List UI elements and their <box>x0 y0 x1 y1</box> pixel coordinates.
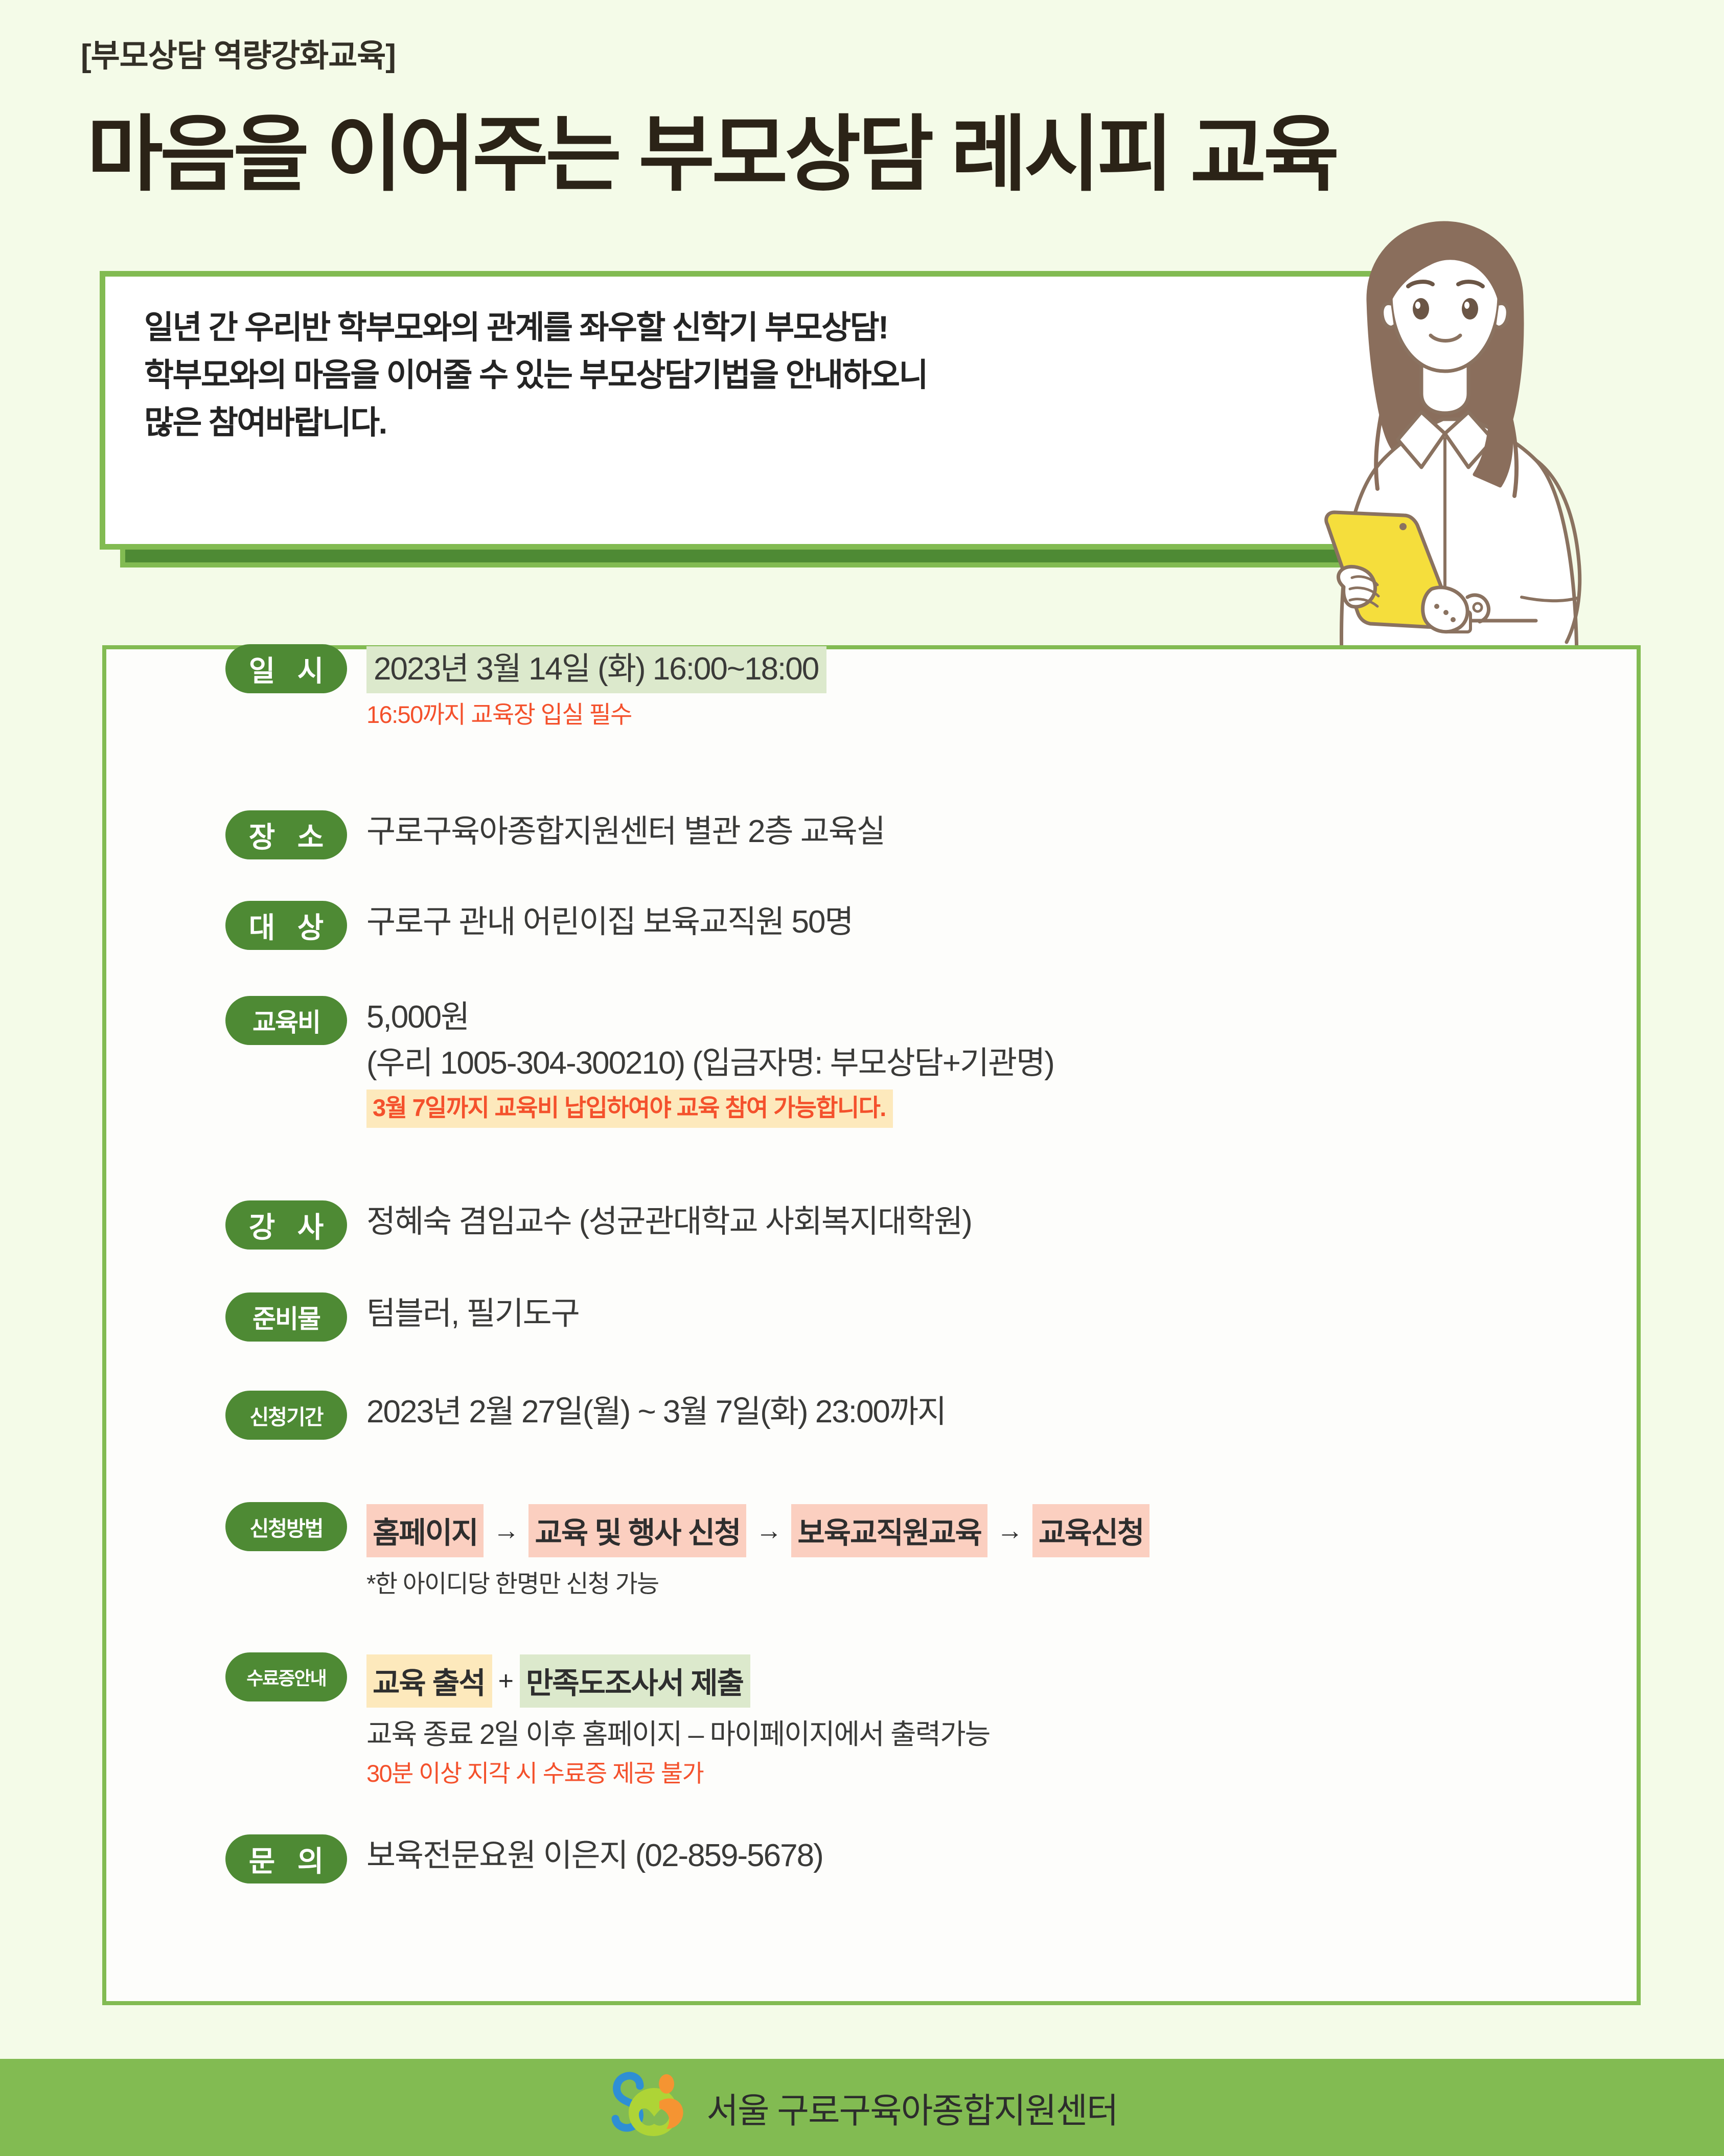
center-logo-icon <box>606 2071 693 2145</box>
value-fee: 5,000원 <box>366 998 1637 1037</box>
poster-kicker: [부모상담 역량강화교육] <box>81 30 396 76</box>
label-target: 대 상 <box>225 901 347 950</box>
flow-arrow-icon-3: → <box>987 1515 1032 1546</box>
detail-row-place: 장 소 구로구육아종합지원센터 별관 2층 교육실 <box>106 810 1637 859</box>
value-place: 구로구육아종합지원센터 별관 2층 교육실 <box>366 812 1637 851</box>
intro-line-2: 학부모와의 마음을 이어줄 수 있는 부모상담기법을 안내하오니 <box>144 352 1395 399</box>
value-target: 구로구 관내 어린이집 보육교직원 50명 <box>366 903 1637 942</box>
certificate-issue-info: 교육 종료 2일 이후 홈페이지 – 마이페이지에서 출력가능 <box>366 1717 1637 1752</box>
label-period: 신청기간 <box>225 1391 347 1440</box>
content-datetime: 2023년 3월 14일 (화) 16:00~18:00 16:50까지 교육장… <box>347 644 1637 729</box>
label-certificate: 수료증안내 <box>225 1652 347 1701</box>
content-method: 홈페이지 → 교육 및 행사 신청 → 보육교직원교육 → 교육신청 *한 아이… <box>347 1502 1637 1599</box>
label-method: 신청방법 <box>225 1502 347 1551</box>
content-place: 구로구육아종합지원센터 별관 2층 교육실 <box>347 810 1637 851</box>
value-instructor: 정혜숙 겸임교수 (성균관대학교 사회복지대학원) <box>366 1202 1637 1241</box>
value-datetime: 2023년 3월 14일 (화) 16:00~18:00 <box>366 646 826 693</box>
flow-step-1: 홈페이지 <box>366 1504 484 1557</box>
detail-row-contact: 문 의 보육전문요원 이은지 (02-859-5678) <box>106 1834 1637 1883</box>
note-fee: 3월 7일까지 교육비 납입하여야 교육 참여 가능합니다. <box>366 1090 893 1127</box>
flow-step-3: 보육교직원교육 <box>791 1504 987 1557</box>
intro-line-1: 일년 간 우리반 학부모와의 관계를 좌우할 신학기 부모상담! <box>144 304 1395 352</box>
content-supplies: 텀블러, 필기도구 <box>347 1292 1637 1333</box>
content-certificate: 교육 출석 + 만족도조사서 제출 교육 종료 2일 이후 홈페이지 – 마이페… <box>347 1652 1637 1788</box>
label-datetime: 일 시 <box>225 644 347 693</box>
flow-arrow-icon-2: → <box>746 1515 791 1546</box>
label-fee: 교육비 <box>225 996 347 1045</box>
footer-bar: 서울 구로구육아종합지원센터 <box>0 2059 1724 2156</box>
detail-row-period: 신청기간 2023년 2월 27일(월) ~ 3월 7일(화) 23:00까지 <box>106 1391 1637 1440</box>
content-fee: 5,000원 (우리 1005-304-300210) (입금자명: 부모상담+… <box>347 996 1637 1128</box>
certificate-requirements: 교육 출석 + 만족도조사서 제출 <box>366 1654 1637 1708</box>
content-instructor: 정혜숙 겸임교수 (성균관대학교 사회복지대학원) <box>347 1200 1637 1241</box>
detail-row-datetime: 일 시 2023년 3월 14일 (화) 16:00~18:00 16:50까지… <box>106 644 1637 729</box>
intro-callout: 일년 간 우리반 학부모와의 관계를 좌우할 신학기 부모상담! 학부모와의 마… <box>100 271 1400 550</box>
page-title: 마음을 이어주는 부모상담 레시피 교육 <box>87 87 1337 207</box>
flow-step-4: 교육신청 <box>1032 1504 1150 1557</box>
footer-organization-name: 서울 구로구육아종합지원센터 <box>706 2082 1117 2133</box>
label-contact: 문 의 <box>225 1834 347 1883</box>
detail-row-instructor: 강 사 정혜숙 겸임교수 (성균관대학교 사회복지대학원) <box>106 1200 1637 1250</box>
label-supplies: 준비물 <box>225 1292 347 1342</box>
note-certificate: 30분 이상 지각 시 수료증 제공 불가 <box>366 1759 1637 1788</box>
value-contact: 보육전문요원 이은지 (02-859-5678) <box>366 1836 1637 1875</box>
flow-arrow-icon-1: → <box>484 1515 528 1546</box>
intro-line-3: 많은 참여바랍니다. <box>144 399 1395 447</box>
note-method: *한 아이디당 한명만 신청 가능 <box>366 1563 1637 1599</box>
application-flow: 홈페이지 → 교육 및 행사 신청 → 보육교직원교육 → 교육신청 <box>366 1504 1637 1557</box>
certificate-req-1: 교육 출석 <box>366 1654 492 1708</box>
content-target: 구로구 관내 어린이집 보육교직원 50명 <box>347 901 1637 942</box>
note-datetime: 16:50까지 교육장 입실 필수 <box>366 700 1637 729</box>
value-supplies: 텀블러, 필기도구 <box>366 1295 1637 1333</box>
flow-step-2: 교육 및 행사 신청 <box>528 1504 746 1557</box>
footer-brand: 서울 구로구육아종합지원센터 <box>606 2071 1117 2145</box>
details-panel: 일 시 2023년 3월 14일 (화) 16:00~18:00 16:50까지… <box>102 645 1641 2005</box>
detail-row-method: 신청방법 홈페이지 → 교육 및 행사 신청 → 보육교직원교육 → 교육신청 … <box>106 1502 1637 1599</box>
value-fee-account: (우리 1005-304-300210) (입금자명: 부모상담+기관명) <box>366 1044 1637 1083</box>
value-period: 2023년 2월 27일(월) ~ 3월 7일(화) 23:00까지 <box>366 1393 1637 1432</box>
label-place: 장 소 <box>225 810 347 859</box>
detail-row-target: 대 상 구로구 관내 어린이집 보육교직원 50명 <box>106 901 1637 950</box>
detail-row-supplies: 준비물 텀블러, 필기도구 <box>106 1292 1637 1342</box>
detail-row-fee: 교육비 5,000원 (우리 1005-304-300210) (입금자명: 부… <box>106 996 1637 1128</box>
plus-icon: + <box>492 1666 520 1696</box>
detail-row-certificate: 수료증안내 교육 출석 + 만족도조사서 제출 교육 종료 2일 이후 홈페이지… <box>106 1652 1637 1788</box>
content-period: 2023년 2월 27일(월) ~ 3월 7일(화) 23:00까지 <box>347 1391 1637 1432</box>
label-instructor: 강 사 <box>225 1200 347 1250</box>
content-contact: 보육전문요원 이은지 (02-859-5678) <box>347 1834 1637 1875</box>
certificate-req-2: 만족도조사서 제출 <box>520 1654 750 1708</box>
